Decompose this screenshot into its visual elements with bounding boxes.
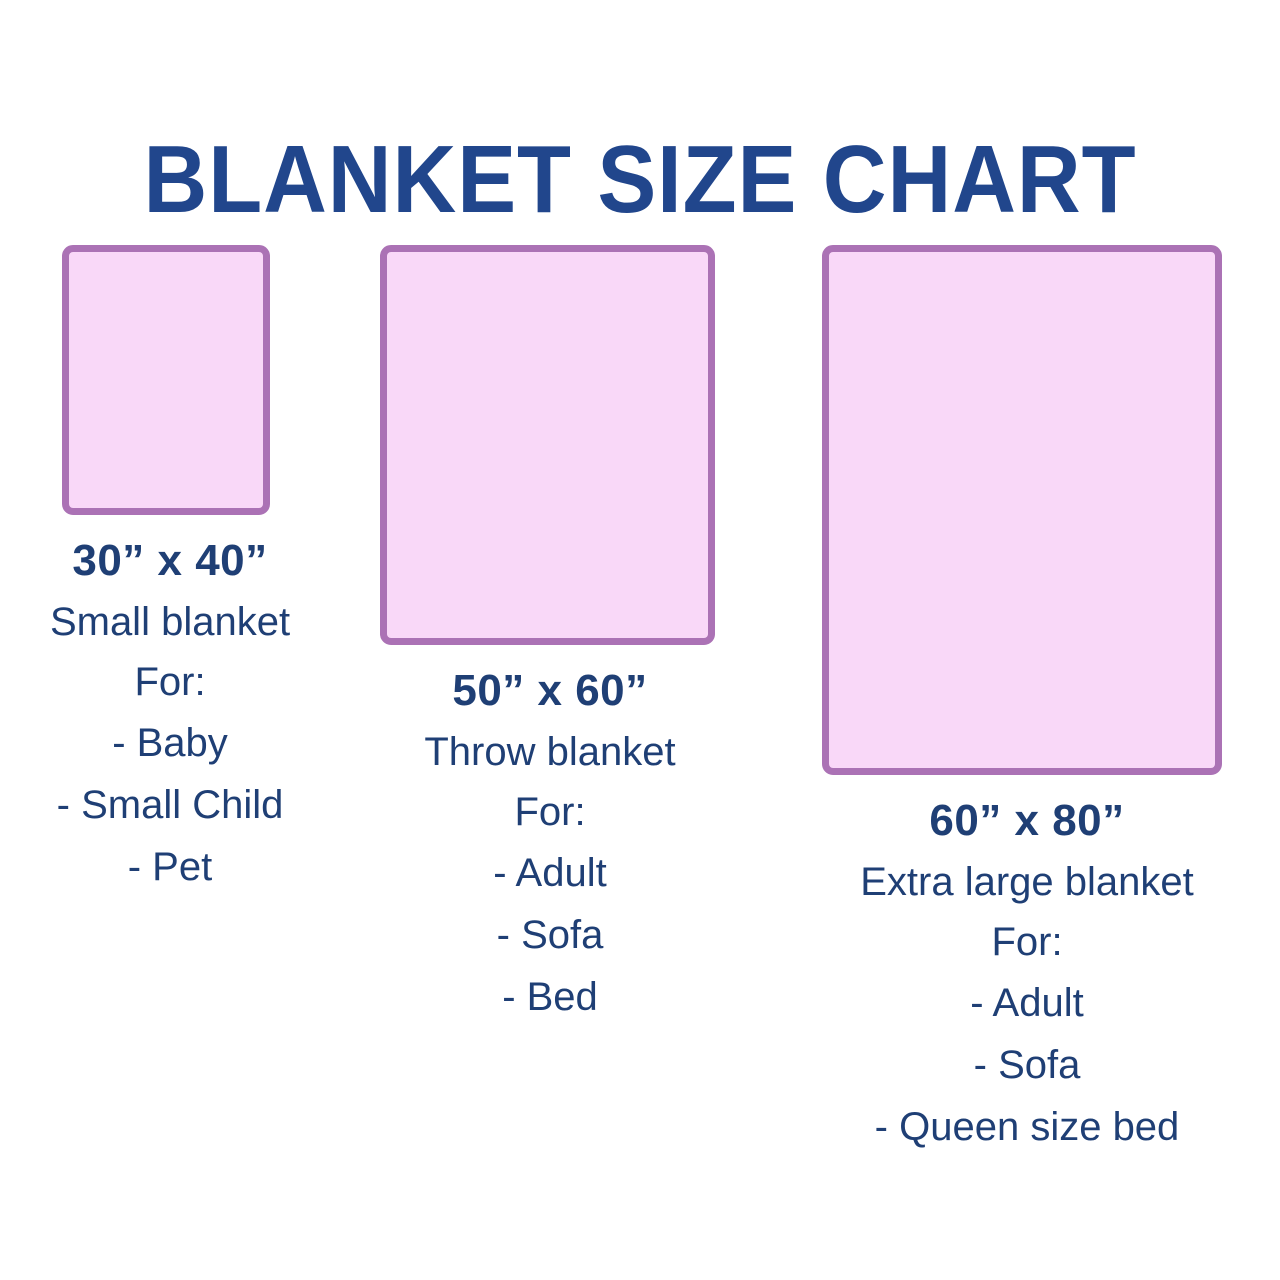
use-list-throw: - Adult - Sofa - Bed	[340, 842, 760, 1028]
swatch-area-small	[0, 230, 340, 530]
size-column-throw: 50” x 60” Throw blanket For: - Adult - S…	[340, 230, 760, 1028]
for-label-small: For:	[0, 652, 340, 712]
list-item: - Sofa	[782, 1034, 1272, 1096]
list-item: - Adult	[782, 972, 1272, 1034]
list-item: - Small Child	[0, 774, 340, 836]
list-item: - Queen size bed	[782, 1096, 1272, 1158]
swatch-area-throw	[340, 230, 760, 660]
list-item: - Bed	[340, 966, 760, 1028]
use-list-xlarge: - Adult - Sofa - Queen size bed	[782, 972, 1272, 1158]
blanket-swatch-xlarge	[822, 245, 1222, 775]
for-label-xlarge: For:	[782, 912, 1272, 972]
dimension-label-small: 30” x 40”	[0, 530, 340, 592]
blanket-swatch-small	[62, 245, 270, 515]
dimension-label-xlarge: 60” x 80”	[782, 790, 1272, 852]
use-list-small: - Baby - Small Child - Pet	[0, 712, 340, 898]
size-columns: 30” x 40” Small blanket For: - Baby - Sm…	[0, 0, 1280, 1280]
for-label-throw: For:	[340, 782, 760, 842]
caption-throw: 50” x 60” Throw blanket For: - Adult - S…	[340, 660, 760, 1028]
size-column-xlarge: 60” x 80” Extra large blanket For: - Adu…	[782, 230, 1272, 1158]
dimension-label-throw: 50” x 60”	[340, 660, 760, 722]
list-item: - Sofa	[340, 904, 760, 966]
list-item: - Baby	[0, 712, 340, 774]
blanket-name-small: Small blanket	[0, 592, 340, 652]
size-column-small: 30” x 40” Small blanket For: - Baby - Sm…	[0, 230, 340, 898]
blanket-name-throw: Throw blanket	[340, 722, 760, 782]
list-item: - Pet	[0, 836, 340, 898]
caption-small: 30” x 40” Small blanket For: - Baby - Sm…	[0, 530, 340, 898]
caption-xlarge: 60” x 80” Extra large blanket For: - Adu…	[782, 790, 1272, 1158]
swatch-area-xlarge	[782, 230, 1272, 790]
list-item: - Adult	[340, 842, 760, 904]
blanket-swatch-throw	[380, 245, 715, 645]
blanket-name-xlarge: Extra large blanket	[782, 852, 1272, 912]
